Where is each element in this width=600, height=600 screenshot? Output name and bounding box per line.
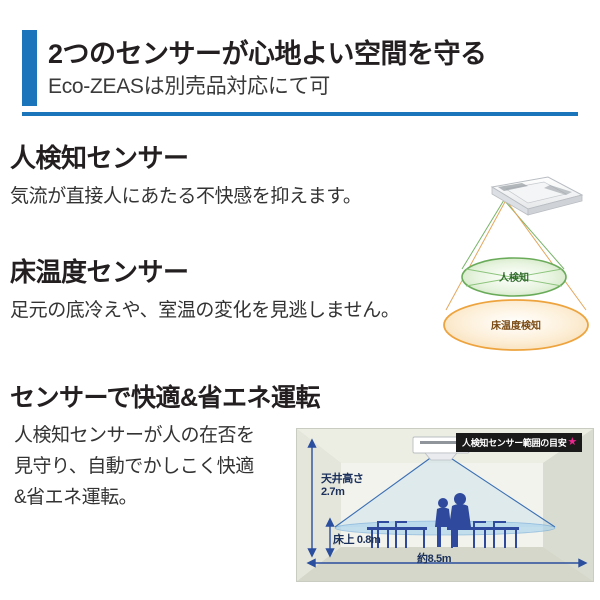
section-body-human: 気流が直接人にあたる不快感を抑えます。 [10, 181, 362, 208]
eco-body-line-3: &省エネ運転。 [14, 482, 255, 513]
eco-body-line-1: 人検知センサーが人の在否を [14, 420, 255, 451]
floor-temp-detection-zone: 床温度検知 [444, 300, 588, 350]
header-accent-bar [22, 30, 37, 106]
coverage-range-badge-label: 人検知センサー範囲の目安 [462, 436, 566, 449]
page-title: 2つのセンサーが心地よい空間を守る [48, 32, 487, 71]
dimension-label-above-floor: 床上 0.8m [333, 534, 380, 547]
human-detection-zone: 人検知 [462, 258, 566, 296]
floor-temp-zone-label: 床温度検知 [491, 319, 541, 332]
header-underline [22, 112, 578, 116]
section-eco-operation: センサーで快適&省エネ運転 [10, 378, 320, 414]
ceiling-height-line1: 天井高さ [321, 473, 363, 486]
section-heading-human: 人検知センサー [10, 138, 362, 175]
header-subtitle: Eco-ZEASは別売品対応にて可 [48, 70, 330, 100]
ceiling-height-line2: 2.7m [321, 486, 363, 499]
dimension-label-ceiling-height: 天井高さ 2.7m [321, 473, 363, 499]
section-human-sensor: 人検知センサー 気流が直接人にあたる不快感を抑えます。 [10, 138, 362, 208]
coverage-range-badge: 人検知センサー範囲の目安 ★ [456, 433, 582, 452]
section-heading-floor: 床温度センサー [10, 252, 399, 289]
room-coverage-diagram: 人検知センサー範囲の目安 ★ 天井高さ 2.7m 床上 0.8m 約8.5m [296, 428, 594, 582]
section-floor-temp-sensor: 床温度センサー 足元の底冷えや、室温の変化を見逃しません。 [10, 252, 399, 322]
section-body-eco: 人検知センサーが人の在否を 見守り、自動でかしこく快適 &省エネ運転。 [14, 420, 255, 513]
ceiling-cassette-icon [492, 177, 582, 215]
dimension-label-room-width: 約8.5m [417, 553, 451, 566]
section-body-floor: 足元の底冷えや、室温の変化を見逃しません。 [10, 295, 399, 322]
sensor-coverage-figure: 人検知 床温度検知 [436, 165, 600, 360]
section-heading-eco: センサーで快適&省エネ運転 [10, 378, 320, 414]
header: 2つのセンサーが心地よい空間を守る Eco-ZEASは別売品対応にて可 [0, 18, 600, 100]
star-icon: ★ [567, 437, 577, 448]
infographic-page: 2つのセンサーが心地よい空間を守る Eco-ZEASは別売品対応にて可 人検知セ… [0, 0, 600, 600]
sensor-coverage-svg: 人検知 床温度検知 [436, 165, 600, 360]
eco-body-line-2: 見守り、自動でかしこく快適 [14, 451, 255, 482]
human-detection-zone-label: 人検知 [499, 271, 529, 284]
